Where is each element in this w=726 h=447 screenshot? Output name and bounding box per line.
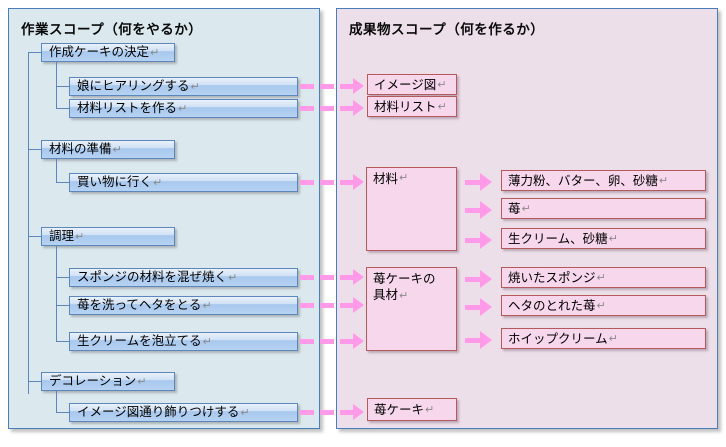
work-group-box[interactable]: 調理↵: [41, 227, 175, 246]
work-group-label: 材料の準備: [49, 143, 112, 156]
work-group-label: 作成ケーキの決定: [49, 46, 149, 59]
work-task-label: 材料リストを作る: [77, 102, 177, 115]
work-group-box[interactable]: デコレーション↵: [41, 372, 175, 391]
work-scope-panel: 作業スコープ（何をやるか）: [8, 8, 320, 429]
deliverable-item-box[interactable]: 生クリーム、砂糖↵: [501, 228, 706, 249]
pilcrow-mark: ↵: [228, 272, 237, 283]
work-task-box[interactable]: 材料リストを作る↵: [69, 99, 298, 118]
work-task-label: スポンジの材料を混ぜ焼く: [77, 271, 227, 284]
connector-arrowhead: [353, 100, 364, 116]
tree-branch-line: [28, 149, 41, 150]
connector-dash: [465, 180, 481, 185]
work-task-label: 娘にヒアリングする: [77, 80, 190, 93]
connector-dash: [340, 180, 354, 185]
tree-branch-line: [56, 341, 69, 342]
deliverable-scope-title: 成果物スコープ（何を作るか）: [349, 18, 544, 38]
pilcrow-mark: ↵: [399, 171, 408, 185]
connector-arrowhead: [353, 269, 364, 285]
tree-sub-trunk-line: [56, 391, 57, 412]
pilcrow-mark: ↵: [597, 271, 606, 285]
connector-dash: [320, 410, 334, 415]
connector-dash: [320, 106, 334, 111]
deliverable-group-label: 材料: [373, 171, 398, 187]
connector-arrowhead: [480, 270, 492, 288]
connector-arrowhead: [353, 78, 364, 94]
work-task-label: 生クリームを泡立てる: [77, 335, 202, 348]
connector-dash: [320, 84, 334, 89]
pilcrow-mark: ↵: [597, 299, 606, 313]
pilcrow-mark: ↵: [178, 103, 187, 114]
tree-sub-trunk-line: [56, 62, 57, 108]
tree-branch-line: [28, 236, 41, 237]
pilcrow-mark: ↵: [609, 332, 618, 346]
work-task-box[interactable]: イメージ図通り飾りつけする↵: [69, 403, 298, 422]
final-deliverable-label: 苺ケーキ: [374, 402, 424, 418]
connector-dash: [320, 275, 334, 280]
connector-arrowhead: [480, 173, 492, 191]
pilcrow-mark: ↵: [137, 376, 146, 387]
work-task-label: イメージ図通り飾りつけする: [77, 406, 239, 419]
tree-branch-line: [56, 182, 69, 183]
connector-dash: [320, 180, 334, 185]
deliverable-item-box[interactable]: 焼いたスポンジ↵: [501, 267, 706, 288]
connector-arrowhead: [480, 231, 492, 249]
connector-arrowhead: [480, 298, 492, 316]
deliverable-item-box[interactable]: 薄力粉、バター、卵、砂糖↵: [501, 170, 706, 191]
connector-dash: [300, 84, 314, 89]
tree-branch-line: [56, 108, 69, 109]
connector-dash: [465, 305, 481, 310]
tree-branch-line: [56, 277, 69, 278]
deliverable-label: 材料リスト: [374, 99, 437, 115]
connector-dash: [465, 277, 481, 282]
deliverable-item-label: 薄力粉、バター、卵、砂糖: [508, 173, 658, 189]
work-task-box[interactable]: 買い物に行く↵: [69, 173, 298, 192]
deliverable-box[interactable]: イメージ図↵: [367, 74, 457, 95]
work-group-box[interactable]: 材料の準備↵: [41, 140, 175, 159]
tree-trunk-line: [28, 52, 29, 394]
work-task-box[interactable]: スポンジの材料を混ぜ焼く↵: [69, 268, 298, 287]
pilcrow-mark: ↵: [240, 407, 249, 418]
connector-dash: [340, 339, 354, 344]
pilcrow-mark: ↵: [659, 174, 668, 188]
pilcrow-mark: ↵: [609, 232, 618, 246]
connector-arrowhead: [353, 404, 364, 420]
deliverable-item-box[interactable]: ホイップクリーム↵: [501, 328, 706, 349]
pilcrow-mark: ↵: [153, 177, 162, 188]
deliverable-label: イメージ図: [374, 77, 436, 93]
work-task-box[interactable]: 生クリームを泡立てる↵: [69, 332, 298, 351]
tree-branch-line: [56, 305, 69, 306]
work-task-box[interactable]: 苺を洗ってヘタをとる↵: [69, 296, 298, 315]
connector-arrowhead: [353, 174, 364, 190]
work-group-box[interactable]: 作成ケーキの決定↵: [41, 43, 175, 62]
deliverable-group-label: 苺ケーキの具材↵: [373, 271, 436, 302]
deliverable-group-label-line1: 苺ケーキの: [373, 271, 436, 286]
connector-dash: [300, 106, 314, 111]
deliverable-box[interactable]: 材料リスト↵: [367, 96, 457, 117]
connector-dash: [340, 275, 354, 280]
connector-dash: [465, 338, 481, 343]
pilcrow-mark: ↵: [399, 289, 408, 302]
pilcrow-mark: ↵: [438, 100, 447, 114]
pilcrow-mark: ↵: [191, 81, 200, 92]
diagram-canvas: 作業スコープ（何をやるか） 作成ケーキの決定↵ 娘にヒアリングする↵ 材料リスト…: [0, 0, 726, 447]
work-scope-title: 作業スコープ（何をやるか）: [21, 18, 202, 38]
connector-dash: [465, 208, 481, 213]
deliverable-group-box[interactable]: 苺ケーキの具材↵: [366, 267, 457, 351]
tree-branch-line: [56, 86, 69, 87]
connector-dash: [300, 303, 314, 308]
connector-dash: [465, 238, 481, 243]
deliverable-item-label: 苺: [508, 201, 521, 217]
deliverable-group-label-line2: 具材: [373, 287, 398, 302]
connector-dash: [320, 339, 334, 344]
connector-dash: [300, 339, 314, 344]
connector-arrowhead: [353, 333, 364, 349]
final-deliverable-box[interactable]: 苺ケーキ↵: [367, 398, 457, 421]
deliverable-item-label: 生クリーム、砂糖: [508, 231, 608, 247]
pilcrow-mark: ↵: [203, 336, 212, 347]
connector-dash: [300, 275, 314, 280]
pilcrow-mark: ↵: [425, 403, 434, 417]
work-task-label: 買い物に行く: [77, 176, 152, 189]
connector-arrowhead: [480, 201, 492, 219]
deliverable-item-box[interactable]: 苺↵: [501, 198, 706, 219]
tree-branch-line: [28, 381, 41, 382]
work-group-label: 調理: [49, 230, 74, 243]
connector-dash: [320, 303, 334, 308]
connector-arrowhead: [353, 297, 364, 313]
pilcrow-mark: ↵: [522, 202, 531, 216]
connector-dash: [300, 180, 314, 185]
tree-branch-line: [56, 412, 69, 413]
pilcrow-mark: ↵: [437, 78, 446, 92]
deliverable-item-label: ヘタのとれた苺: [508, 298, 596, 314]
connector-dash: [340, 106, 354, 111]
deliverable-item-box[interactable]: ヘタのとれた苺↵: [501, 295, 706, 316]
work-group-label: デコレーション: [49, 375, 136, 388]
connector-dash: [340, 410, 354, 415]
pilcrow-mark: ↵: [75, 231, 84, 242]
deliverable-group-box[interactable]: 材料↵: [366, 167, 457, 251]
tree-sub-trunk-line: [56, 159, 57, 182]
connector-dash: [340, 303, 354, 308]
connector-arrowhead: [480, 331, 492, 349]
pilcrow-mark: ↵: [113, 144, 122, 155]
pilcrow-mark: ↵: [202, 300, 211, 311]
connector-dash: [340, 84, 354, 89]
work-task-box[interactable]: 娘にヒアリングする↵: [69, 77, 298, 96]
tree-branch-line: [28, 52, 41, 53]
deliverable-item-label: 焼いたスポンジ: [508, 270, 596, 286]
deliverable-item-label: ホイップクリーム: [508, 331, 608, 347]
work-task-label: 苺を洗ってヘタをとる: [77, 299, 201, 312]
connector-dash: [300, 410, 314, 415]
pilcrow-mark: ↵: [150, 47, 159, 58]
tree-sub-trunk-line: [56, 246, 57, 341]
